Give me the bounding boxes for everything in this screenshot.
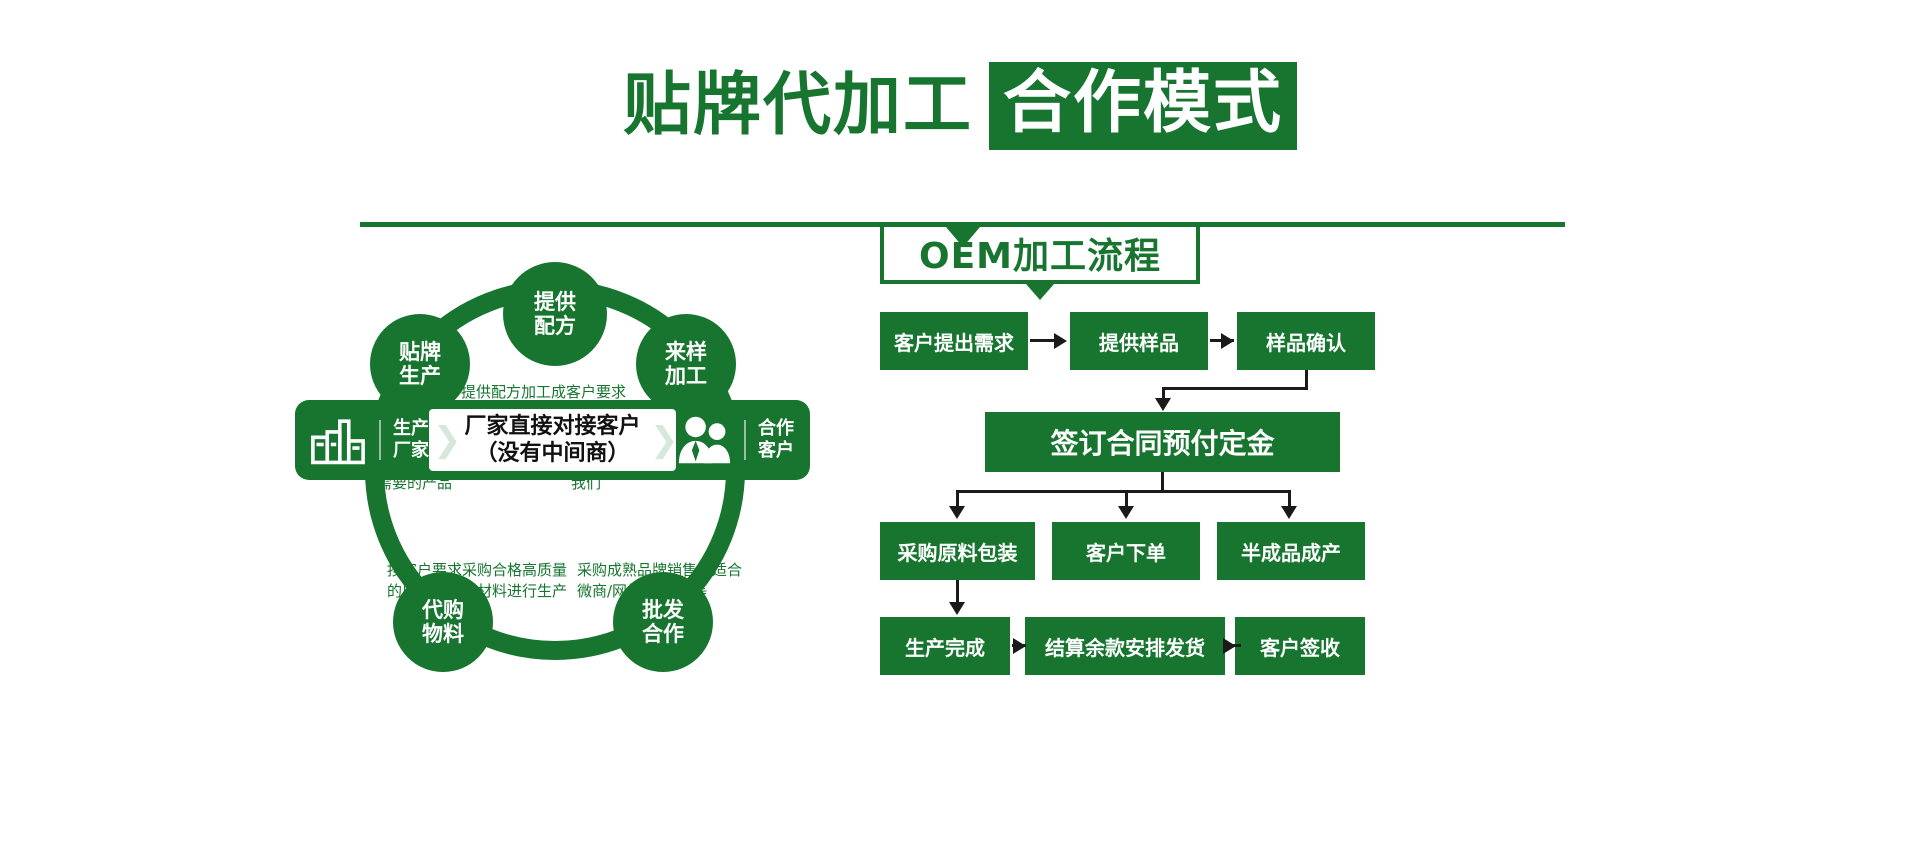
page-title-plain: 贴牌代加工: [623, 72, 973, 140]
circle-node-provide-formula-line2: 配方: [534, 314, 576, 338]
flow-box-purchase-materials[interactable]: 采购原料包装: [880, 522, 1035, 580]
arrow-icon-branch-mid: [1118, 506, 1134, 519]
circle-node-wholesale-cooperation[interactable]: 批发 合作: [613, 572, 713, 672]
center-bar-divider-left: [379, 420, 381, 460]
arrow-icon-r1-1: [1054, 333, 1067, 349]
connector-r3-down: [956, 580, 959, 604]
center-bar-manufacturer: 生产 厂家: [295, 414, 429, 466]
center-bar-customers: 合作 客户: [676, 413, 810, 467]
circle-node-material-purchase-line2: 物料: [422, 622, 464, 646]
circle-node-sample-processing-line1: 来样: [665, 340, 707, 364]
center-bar-manufacturer-label: 生产 厂家: [393, 418, 429, 462]
oem-flowchart-heading-text: OEM加工流程: [919, 227, 1161, 279]
infographic-root: 贴牌代加工 合作模式 提供配方加工成客户要求的形式 公司提供配方直接供应市场需要…: [0, 0, 1920, 857]
flow-box-provide-sample[interactable]: 提供样品: [1070, 312, 1208, 370]
center-bar-message-text: 厂家直接对接客户 （没有中间商）: [464, 413, 640, 467]
circle-node-material-purchase-line1: 代购: [422, 598, 464, 622]
oem-flowchart-heading: OEM加工流程: [880, 222, 1200, 284]
arrow-icon-r1-2: [1221, 333, 1234, 349]
flow-box-settle-balance-ship[interactable]: 结算余款安排发货: [1025, 617, 1225, 675]
page-title-highlight: 合作模式: [989, 62, 1297, 150]
circle-node-oem-production-line2: 生产: [399, 364, 441, 388]
arrow-icon-r4-1: [1013, 638, 1026, 654]
page-title: 贴牌代加工 合作模式: [0, 62, 1920, 150]
circle-node-wholesale-cooperation-line2: 合作: [642, 622, 684, 646]
circle-node-sample-processing-line2: 加工: [665, 364, 707, 388]
flow-box-sign-contract-deposit[interactable]: 签订合同预付定金: [985, 412, 1340, 472]
circle-node-oem-production[interactable]: 贴牌 生产: [370, 314, 470, 414]
circle-node-oem-production-line1: 贴牌: [399, 340, 441, 364]
flow-box-sample-confirm[interactable]: 样品确认: [1237, 312, 1375, 370]
arrow-icon-branch-right: [1281, 506, 1297, 519]
flow-box-customer-request[interactable]: 客户提出需求: [880, 312, 1028, 370]
circle-node-provide-formula-line1: 提供: [534, 290, 576, 314]
arrow-icon-r4-2: [1223, 638, 1236, 654]
center-bar-divider-right: [744, 420, 746, 460]
center-relationship-bar: 生产 厂家 ❯ 厂家直接对接客户 （没有中间商） ❯: [295, 400, 810, 480]
flow-box-semi-finished[interactable]: 半成品成产: [1217, 522, 1365, 580]
factory-icon: [309, 414, 367, 466]
arrow-icon-r3-down: [949, 602, 965, 615]
center-bar-manufacturer-line1: 生产: [393, 418, 429, 440]
chevron-right-icon-left: ❯: [433, 425, 455, 455]
customers-icon: [676, 413, 732, 467]
center-bar-message: ❯ 厂家直接对接客户 （没有中间商） ❯: [429, 409, 676, 471]
connector-r2-branch: [956, 490, 1290, 493]
center-bar-customers-label: 合作 客户: [758, 418, 794, 462]
oem-flowchart: OEM加工流程 客户提出需求 提供样品 样品确认 签订合同预付定金 采购原料包装…: [880, 272, 1500, 672]
connector-r1-1: [1030, 339, 1056, 342]
chevron-right-icon-right: ❯: [650, 425, 672, 455]
circle-node-sample-processing[interactable]: 来样 加工: [636, 314, 736, 414]
flow-box-customer-receipt[interactable]: 客户签收: [1235, 617, 1365, 675]
oem-heading-arrow-icon: [1026, 284, 1054, 300]
center-bar-customers-line1: 合作: [758, 418, 794, 440]
flow-box-production-complete[interactable]: 生产完成: [880, 617, 1010, 675]
connector-r2-down: [1161, 472, 1164, 492]
circle-node-material-purchase[interactable]: 代购 物料: [393, 572, 493, 672]
center-bar-message-line2: （没有中间商）: [464, 440, 640, 467]
connector-to-contract: [1162, 387, 1308, 390]
circle-node-provide-formula[interactable]: 提供 配方: [503, 262, 607, 366]
arrow-icon-to-contract: [1155, 398, 1171, 411]
center-bar-manufacturer-line2: 厂家: [393, 440, 429, 462]
center-bar-message-line1: 厂家直接对接客户: [464, 413, 640, 440]
flow-box-customer-order[interactable]: 客户下单: [1052, 522, 1200, 580]
center-bar-customers-line2: 客户: [758, 440, 794, 462]
circle-node-wholesale-cooperation-line1: 批发: [642, 598, 684, 622]
arrow-icon-branch-left: [949, 506, 965, 519]
cooperation-circle-diagram: 提供配方加工成客户要求的形式 公司提供配方直接供应市场需要的产品 只需要提供样品…: [355, 272, 785, 672]
